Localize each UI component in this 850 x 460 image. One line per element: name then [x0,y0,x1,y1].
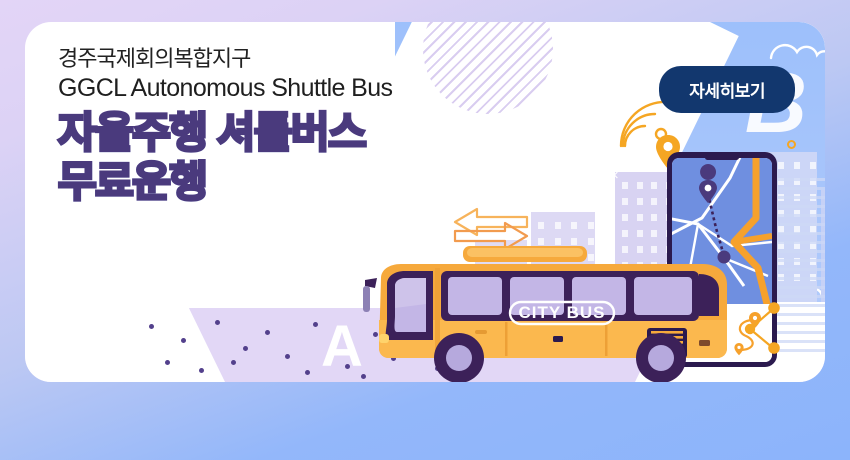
building-window [622,214,628,221]
ground-dot [199,368,204,373]
building-window [651,230,657,237]
building-window [778,162,784,169]
shuttle-bus-illustration: CITY BUS [355,244,755,382]
building-window [588,222,594,229]
building-window [538,222,544,229]
building-window [637,182,643,189]
share-node-icon [743,300,785,363]
ground-dot [285,354,290,359]
building-window [651,198,657,205]
building-window [555,222,561,229]
ground-dot [149,324,154,329]
headline-block: 경주국제회의복합지구 GGCL Autonomous Shuttle Bus 자… [58,44,528,207]
ground-dot [181,338,186,343]
building-window [651,182,657,189]
building-window [571,222,577,229]
building-window [810,162,816,169]
building-window [651,214,657,221]
ground-dot [265,330,270,335]
ground-dot [313,322,318,327]
x-mark-decor: × [610,167,619,184]
building-window [622,230,628,237]
building-window [637,214,643,221]
view-details-button[interactable]: 자세히보기 [659,66,795,113]
ground-dot [243,346,248,351]
kicker-english: GGCL Autonomous Shuttle Bus [58,73,528,104]
svg-text:CITY BUS: CITY BUS [518,303,605,322]
building-window [794,162,800,169]
building-window [637,198,643,205]
building-window [622,182,628,189]
banner-card: B × [25,22,825,382]
ground-dot [215,320,220,325]
ring-decor-2 [787,140,796,149]
banner-root: B × [0,0,850,460]
phone-notch [705,155,739,160]
headline-line-2: 무료운행 [58,157,528,207]
headline-line-1: 자율주행 셔틀버스 [58,108,528,158]
ground-dot [231,360,236,365]
ground-dot [305,370,310,375]
kicker-korean: 경주국제회의복합지구 [58,44,528,73]
headline-group: 자율주행 셔틀버스 무료운행 [58,108,528,207]
ground-dot [165,360,170,365]
building-window [637,230,643,237]
building-window [622,198,628,205]
